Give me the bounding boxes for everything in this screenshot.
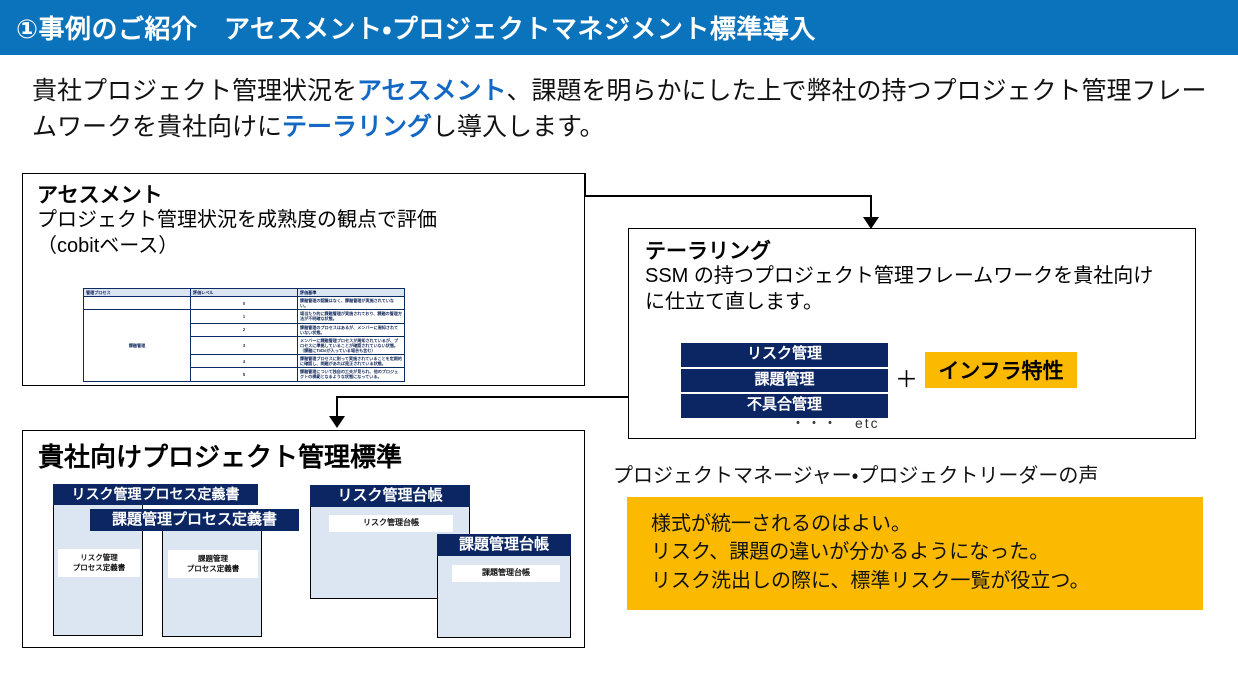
doc-card-head: 課題管理プロセス定義書: [90, 509, 299, 531]
cell-criteria: メンバーに課題管理プロセスが周知されているが、プロセスに準拠していることが確認さ…: [298, 336, 405, 354]
cell-criteria: 課題管理の認識はなく、課題管理が実施されていない。: [298, 297, 405, 310]
doc-card-label: 課題管理台帳: [452, 565, 560, 581]
connector-tailoring-to-standard-horizontal: [336, 396, 629, 398]
assessment-title: アセスメント: [37, 183, 584, 208]
col-process: 管理プロセス: [84, 289, 191, 297]
lead-highlight-assessment: アセスメント: [357, 77, 507, 105]
cell-process: [84, 297, 191, 310]
standard-title: 貴社向けプロジェクト管理標準: [38, 437, 402, 474]
voice-line-1: 様式が統一されるのはよい。: [627, 510, 1203, 538]
doc-card-label: リスク管理台帳: [329, 515, 453, 531]
cell-criteria: 場当たり的に課題管理が実施されており、課題の管理方法が不明確な状態。: [298, 310, 405, 323]
cell-level: 4: [191, 355, 298, 368]
table-row: 0 課題管理の認識はなく、課題管理が実施されていない。: [84, 297, 405, 310]
voices-caption: プロジェクトマネージャー・プロジェクトリーダーの声: [613, 459, 1098, 488]
framework-etc-label: ・・・ etc: [791, 413, 880, 433]
table-row: 課題管理 1 場当たり的に課題管理が実施されており、課題の管理方法が不明確な状態…: [84, 310, 405, 323]
cell-criteria: 課題管理プロセスに則って実施されていることを定期的に確認し、問題があれば是正され…: [298, 355, 405, 368]
assessment-body-line-2: （cobitベース）: [37, 234, 584, 260]
plus-icon: ＋: [895, 360, 918, 394]
tailoring-title: テーラリング: [645, 239, 1195, 264]
cell-process: 課題管理: [84, 310, 191, 381]
infra-characteristics-badge: インフラ特性: [925, 352, 1077, 388]
voices-box: 様式が統一されるのはよい。 リスク、課題の違いが分かるようになった。 リスク洗出…: [627, 497, 1203, 610]
lead-part-3: し導入します。: [432, 113, 605, 141]
slide-header: ①事例のご紹介 アセスメント・プロジェクトマネジメント標準導入: [0, 0, 1238, 55]
cell-criteria: 課題管理のプロセスはあるが、メンバーに周知されていない状態。: [298, 323, 405, 336]
cell-criteria: 課題管理について独自の工夫が見られ、他のプロジェクトの模範となるような状態になっ…: [298, 368, 405, 381]
slide-root: ①事例のご紹介 アセスメント・プロジェクトマネジメント標準導入 貴社プロジェクト…: [0, 0, 1238, 698]
doc-card-body: 課題管理台帳: [437, 556, 571, 638]
framework-bar-group: リスク管理 課題管理 不具合管理: [681, 343, 888, 420]
doc-card-head: 課題管理台帳: [437, 534, 571, 556]
doc-card-head: リスク管理プロセス定義書: [53, 484, 258, 505]
cell-level: 0: [191, 297, 298, 310]
framework-bar-risk: リスク管理: [681, 343, 888, 367]
lead-paragraph: 貴社プロジェクト管理状況をアセスメント、課題を明らかにした上で弊社の持つプロジェ…: [32, 74, 1227, 145]
doc-card-issue-process: 課題管理プロセス定義書 課題管理 プロセス定義書: [90, 509, 299, 636]
doc-card-issue-register: 課題管理台帳 課題管理台帳: [437, 534, 571, 639]
connector-assessment-to-tailoring-horizontal: [584, 195, 872, 197]
table-header-row: 管理プロセス 評価レベル 評価基準: [84, 289, 405, 297]
page-title: ①事例のご紹介 アセスメント・プロジェクトマネジメント標準導入: [0, 9, 816, 46]
cell-level: 3: [191, 336, 298, 354]
doc-card-head: リスク管理台帳: [310, 485, 470, 507]
cell-level: 5: [191, 368, 298, 381]
framework-bar-issue: 課題管理: [681, 369, 888, 393]
col-level: 評価レベル: [191, 289, 298, 297]
lead-highlight-tailoring: テーラリング: [282, 113, 432, 141]
doc-card-body: 課題管理 プロセス定義書: [162, 531, 262, 637]
voice-line-2: リスク、課題の違いが分かるようになった。: [627, 538, 1203, 566]
connector-assessment-to-tailoring-vstub: [584, 173, 586, 197]
assessment-body-line-1: プロジェクト管理状況を成熟度の観点で評価: [37, 208, 584, 234]
arrow-head-to-standard: [329, 416, 345, 428]
voice-line-3: リスク洗出しの際に、標準リスク一覧が役立つ。: [627, 567, 1203, 595]
doc-card-label: 課題管理 プロセス定義書: [168, 550, 258, 578]
cell-level: 2: [191, 323, 298, 336]
col-criteria: 評価基準: [298, 289, 405, 297]
tailoring-body-line-1: SSM の持つプロジェクト管理フレームワークを貴社向け: [645, 264, 1180, 290]
cell-level: 1: [191, 310, 298, 323]
maturity-table: 管理プロセス 評価レベル 評価基準 0 課題管理の認識はなく、課題管理が実施され…: [83, 288, 405, 382]
lead-part-1: 貴社プロジェクト管理状況を: [32, 77, 357, 105]
tailoring-body-line-2: に仕立て直します。: [645, 290, 1180, 316]
